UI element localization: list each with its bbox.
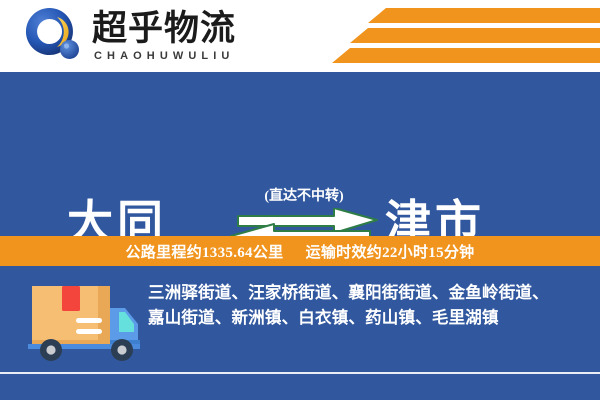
coverage-area-list: 三洲驿街道、汪家桥街道、襄阳街街道、金鱼岭街道、 嘉山街道、新洲镇、白衣镇、药山… [148, 280, 586, 330]
distance-text: 公路里程约1335.64公里 [126, 245, 284, 261]
direct-route-label: (直达不中转) [228, 188, 380, 206]
orange-chevron-stripes-icon [330, 8, 600, 66]
route-section: 大同 (直达不中转) 【往返运输】 津市 [0, 72, 600, 236]
brand-name-cn: 超乎物流 [92, 9, 236, 49]
info-band-text: 公路里程约1335.64公里 运输时效约22小时15分钟 [126, 241, 475, 262]
circle-crescent-logo-icon [24, 6, 86, 64]
header-bar: 超乎物流 CHAOHUWULIU [0, 0, 600, 72]
delivery-truck-icon [24, 278, 144, 366]
brand-name-en: CHAOHUWULIU [92, 49, 236, 63]
coverage-line-1: 三洲驿街道、汪家桥街道、襄阳街街道、金鱼岭街道、 [148, 280, 586, 305]
logistics-route-poster: 超乎物流 CHAOHUWULIU 大同 (直达不中转) 【往返运输】 [0, 0, 600, 400]
coverage-line-2: 嘉山街道、新洲镇、白衣镇、药山镇、毛里湖镇 [148, 305, 586, 330]
bottom-divider [0, 372, 600, 374]
duration-text: 运输时效约22小时15分钟 [306, 245, 475, 261]
coverage-section: 三洲驿街道、汪家桥街道、襄阳街街道、金鱼岭街道、 嘉山街道、新洲镇、白衣镇、药山… [0, 266, 600, 400]
brand-logo: 超乎物流 CHAOHUWULIU [24, 6, 236, 64]
info-band: 公路里程约1335.64公里 运输时效约22小时15分钟 [0, 236, 600, 266]
brand-text: 超乎物流 CHAOHUWULIU [92, 6, 236, 63]
